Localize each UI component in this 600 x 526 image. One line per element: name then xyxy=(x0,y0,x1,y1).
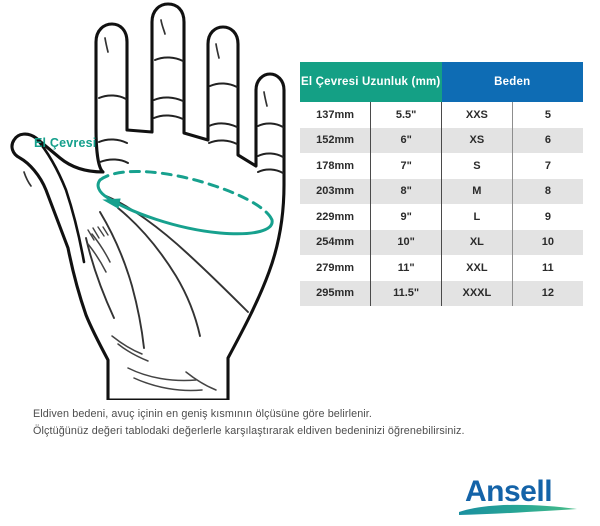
row-hand-circumference-inch: 9" xyxy=(371,204,442,230)
row-hand-circumference-inch: 11" xyxy=(371,255,442,281)
row-hand-circumference-mm: 279mm xyxy=(300,255,371,281)
ansell-logo-text: Ansell xyxy=(465,475,552,508)
table-row: 229mm9"L9 xyxy=(300,204,583,230)
row-size-number: 11 xyxy=(512,255,583,281)
row-size-number: 12 xyxy=(512,281,583,307)
measure-label: El Çevresi xyxy=(34,136,96,150)
instructions-line-1: Eldiven bedeni, avuç içinin en geniş kıs… xyxy=(33,406,573,423)
instructions-text: Eldiven bedeni, avuç içinin en geniş kıs… xyxy=(33,406,573,440)
row-hand-circumference-mm: 295mm xyxy=(300,281,371,307)
row-hand-circumference-mm: 254mm xyxy=(300,230,371,256)
row-hand-circumference-inch: 7" xyxy=(371,153,442,179)
table-row: 279mm11"XXL11 xyxy=(300,255,583,281)
row-hand-circumference-mm: 178mm xyxy=(300,153,371,179)
instructions-line-2: Ölçtüğünüz değeri tablodaki değerlerle k… xyxy=(33,423,573,440)
header-hand-circumference: El Çevresi Uzunluk (mm) xyxy=(300,62,442,102)
table-row: 203mm8"M8 xyxy=(300,179,583,205)
row-hand-circumference-inch: 10" xyxy=(371,230,442,256)
ansell-logo: Ansell xyxy=(455,470,585,518)
row-size-letter: M xyxy=(442,179,513,205)
row-hand-circumference-inch: 5.5" xyxy=(371,102,442,128)
row-size-number: 7 xyxy=(512,153,583,179)
row-size-letter: XXS xyxy=(442,102,513,128)
row-hand-circumference-mm: 137mm xyxy=(300,102,371,128)
table-row: 152mm6"XS6 xyxy=(300,128,583,154)
row-size-letter: XXXL xyxy=(442,281,513,307)
row-size-letter: L xyxy=(442,204,513,230)
row-size-number: 10 xyxy=(512,230,583,256)
table-body: 137mm5.5"XXS5152mm6"XS6178mm7"S7203mm8"M… xyxy=(300,102,583,306)
row-size-number: 8 xyxy=(512,179,583,205)
row-size-number: 9 xyxy=(512,204,583,230)
table-row: 254mm10"XL10 xyxy=(300,230,583,256)
row-size-letter: S xyxy=(442,153,513,179)
row-hand-circumference-inch: 6" xyxy=(371,128,442,154)
size-chart-table: El Çevresi Uzunluk (mm) Beden 137mm5.5"X… xyxy=(300,62,583,306)
row-hand-circumference-mm: 229mm xyxy=(300,204,371,230)
row-size-letter: XS xyxy=(442,128,513,154)
row-size-letter: XL xyxy=(442,230,513,256)
row-size-number: 6 xyxy=(512,128,583,154)
table-row: 178mm7"S7 xyxy=(300,153,583,179)
glove-size-chart: El Çevresi El Çevresi Uzunluk (mm) Beden… xyxy=(0,0,600,526)
row-hand-circumference-inch: 11.5" xyxy=(371,281,442,307)
header-size: Beden xyxy=(442,62,584,102)
table-header: El Çevresi Uzunluk (mm) Beden xyxy=(300,62,583,102)
row-hand-circumference-mm: 152mm xyxy=(300,128,371,154)
row-hand-circumference-inch: 8" xyxy=(371,179,442,205)
row-size-letter: XXL xyxy=(442,255,513,281)
table-row: 137mm5.5"XXS5 xyxy=(300,102,583,128)
hand-outline xyxy=(12,4,284,400)
table-row: 295mm11.5"XXXL12 xyxy=(300,281,583,307)
hand-illustration: El Çevresi xyxy=(0,0,300,400)
row-hand-circumference-mm: 203mm xyxy=(300,179,371,205)
row-size-number: 5 xyxy=(512,102,583,128)
